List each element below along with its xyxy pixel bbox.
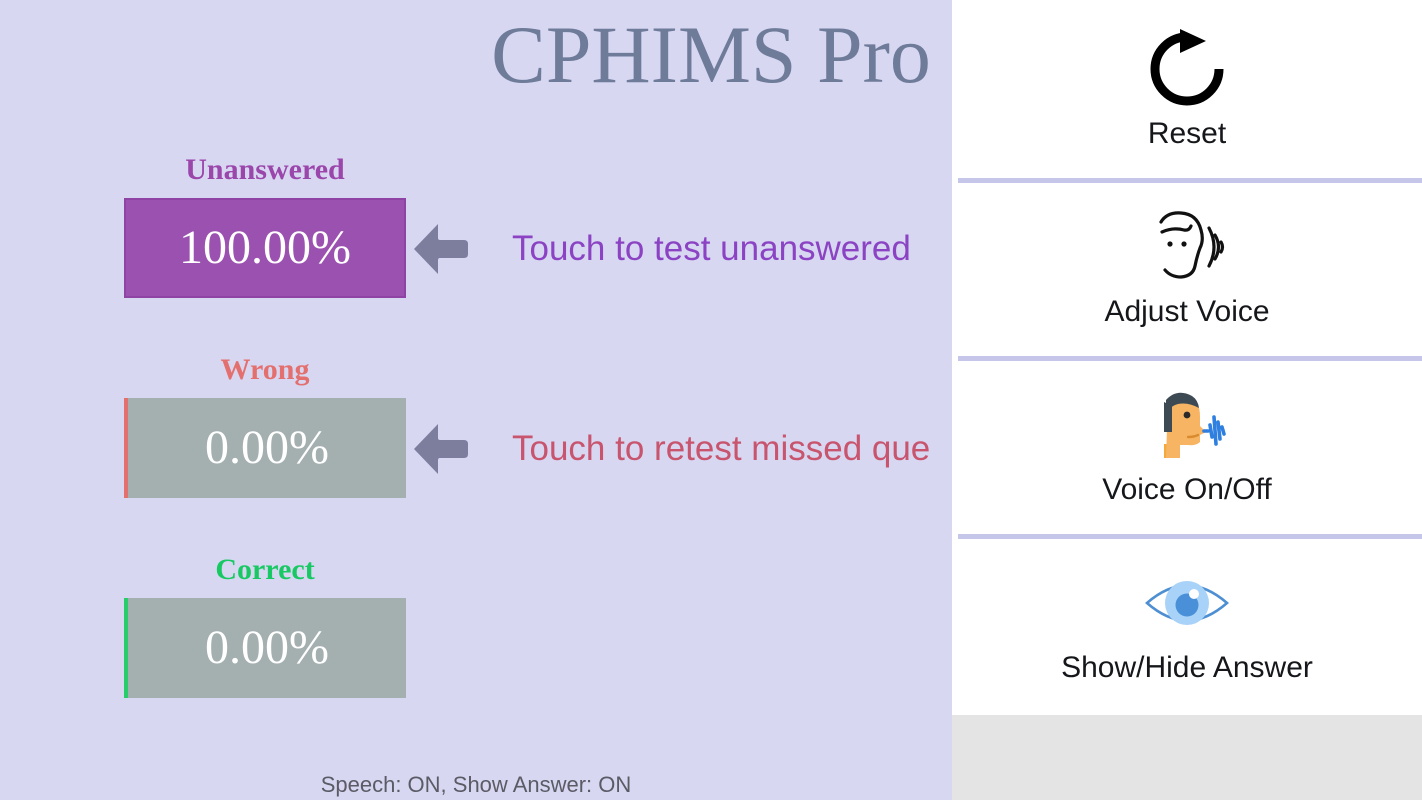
menu-item-label: Show/Hide Answer [1061, 650, 1313, 686]
face-with-sound-waves-icon [1137, 204, 1237, 290]
menu-item-show-hide-answer[interactable]: Show/Hide Answer [952, 534, 1422, 712]
speaking-head-icon [1144, 382, 1230, 468]
left-arrow-icon [412, 422, 470, 476]
status-text: Speech: ON, Show Answer: ON [0, 770, 952, 800]
menu-list: Reset Adjust Voice [952, 0, 1422, 715]
stat-bar-unanswered[interactable]: 100.00% [124, 198, 406, 298]
stat-value-wrong: 0.00% [205, 424, 329, 472]
menu-item-label: Reset [1148, 116, 1226, 152]
menu-item-voice-on-off[interactable]: Voice On/Off [952, 356, 1422, 534]
menu-item-reset[interactable]: Reset [952, 0, 1422, 178]
eye-icon [1137, 560, 1237, 646]
hint-text-wrong[interactable]: Touch to retest missed que [512, 422, 930, 476]
stat-label-wrong: Wrong [124, 350, 406, 390]
stat-value-unanswered: 100.00% [179, 224, 351, 272]
stat-label-correct: Correct [124, 550, 406, 590]
stat-value-correct: 0.00% [205, 624, 329, 672]
options-menu-panel: Reset Adjust Voice [952, 0, 1422, 800]
stat-bar-wrong[interactable]: 0.00% [124, 398, 406, 498]
menu-item-label: Voice On/Off [1102, 472, 1272, 508]
refresh-icon [1144, 26, 1230, 112]
stat-label-unanswered: Unanswered [124, 150, 406, 190]
menu-footer-spacer [952, 715, 1422, 800]
left-arrow-icon [412, 222, 470, 276]
hint-text-unanswered[interactable]: Touch to test unanswered [512, 222, 911, 276]
menu-item-label: Adjust Voice [1104, 294, 1269, 330]
menu-item-adjust-voice[interactable]: Adjust Voice [952, 178, 1422, 356]
stat-bar-correct[interactable]: 0.00% [124, 598, 406, 698]
